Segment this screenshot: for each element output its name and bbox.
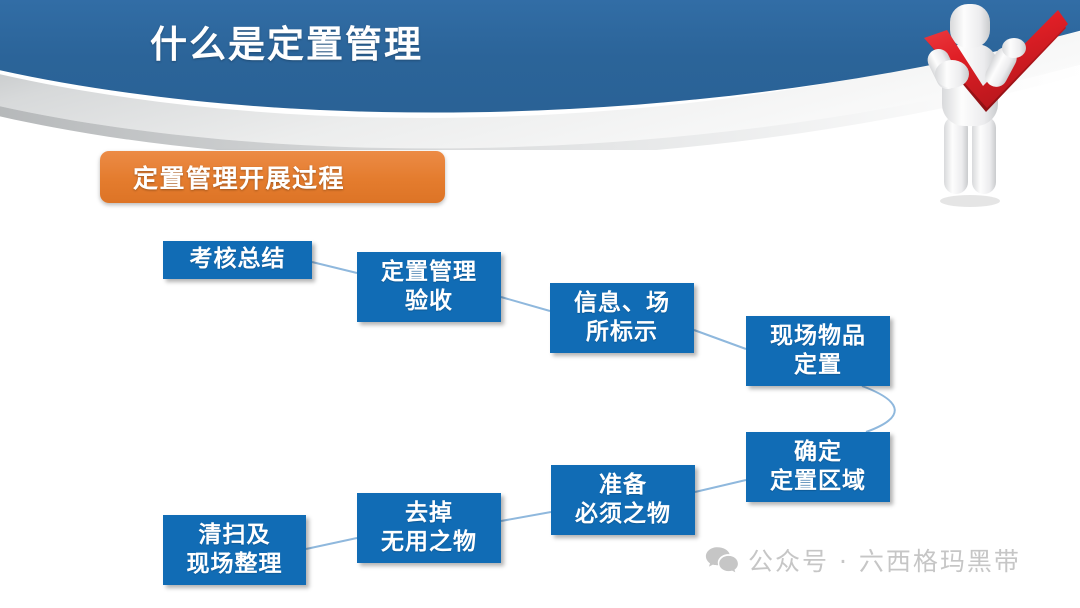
flow-box-dingzhi-yanshou[interactable]: 定置管理 验收 (357, 252, 501, 322)
flow-box-kaohe-zongjie[interactable]: 考核总结 (163, 241, 312, 279)
connector-4 (862, 386, 895, 432)
flow-box-qingsao-zhengli[interactable]: 清扫及 现场整理 (163, 515, 306, 585)
connector-1 (312, 262, 357, 273)
wechat-icon (705, 546, 739, 574)
flow-box-queding-quyu[interactable]: 确定 定置区域 (746, 432, 890, 502)
connector-7 (306, 538, 357, 549)
watermark-text: 公众号 · 六西格玛黑带 (748, 542, 1021, 578)
connector-6 (501, 512, 551, 521)
watermark: 公众号 · 六西格玛黑带 (705, 542, 1021, 578)
connector-5 (695, 480, 746, 492)
mascot-check-figure (890, 0, 1080, 211)
flow-box-zhunbei-zhiwu[interactable]: 准备 必须之物 (551, 465, 695, 535)
slide-canvas: 什么是定置管理 (0, 0, 1080, 608)
connector-2 (501, 297, 550, 311)
section-banner: 定置管理开展过程 (100, 151, 445, 203)
flow-box-xinxi-biaoshi[interactable]: 信息、场 所标示 (550, 283, 694, 353)
flow-box-quqiao-wuyong[interactable]: 去掉 无用之物 (357, 493, 501, 563)
connector-3 (694, 330, 746, 349)
section-banner-label: 定置管理开展过程 (133, 159, 345, 195)
page-title: 什么是定置管理 (150, 14, 423, 68)
flow-box-xianchang-wupin[interactable]: 现场物品 定置 (746, 316, 890, 386)
